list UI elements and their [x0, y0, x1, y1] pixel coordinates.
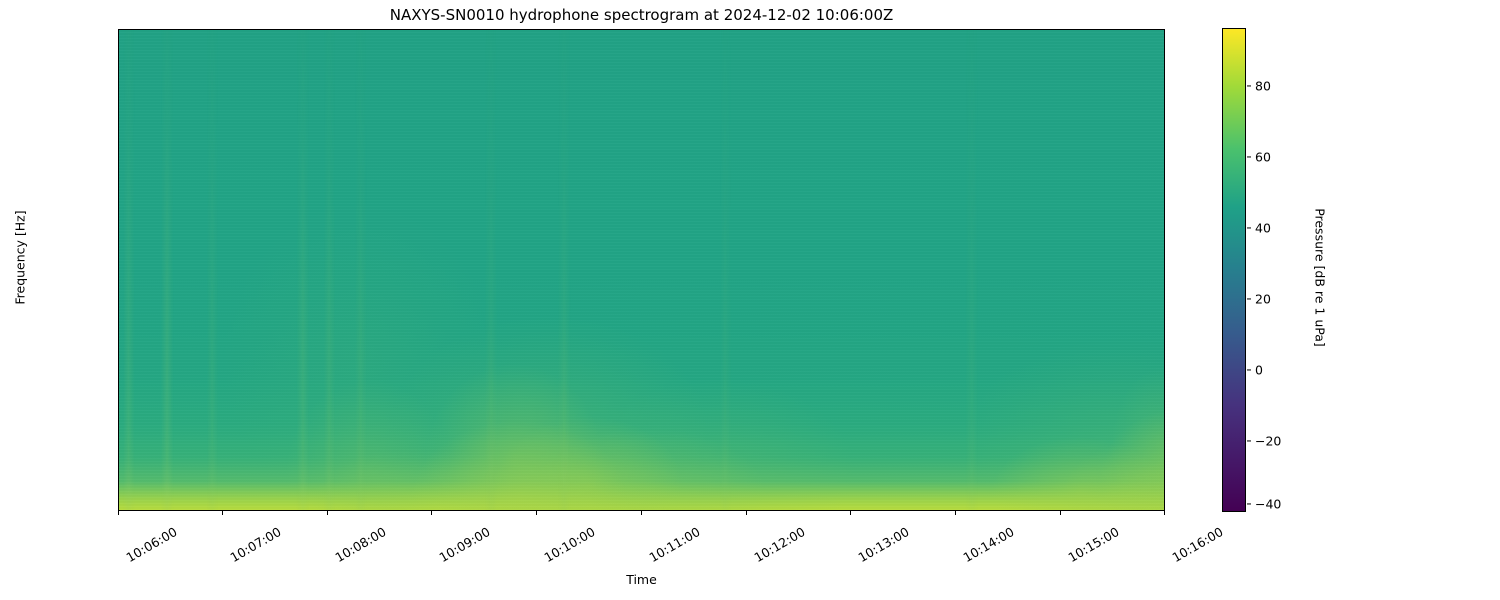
- spectrogram-figure: NAXYS-SN0010 hydrophone spectrogram at 2…: [0, 0, 1500, 600]
- x-tick-mark: [746, 511, 747, 515]
- colorbar-tick-mark: [1247, 227, 1251, 228]
- x-tick-mark: [327, 511, 328, 515]
- x-tick-label: 10:08:00: [333, 524, 389, 565]
- colorbar-tick-label: 40: [1255, 221, 1271, 236]
- x-tick-label: 10:10:00: [542, 524, 598, 565]
- colorbar-tick-mark: [1247, 298, 1251, 299]
- x-tick-mark: [222, 511, 223, 515]
- x-tick-mark: [641, 511, 642, 515]
- colorbar-tick-label: 0: [1255, 363, 1263, 378]
- x-tick-mark: [431, 511, 432, 515]
- colorbar-tick-label: 80: [1255, 79, 1271, 94]
- x-tick-label: 10:15:00: [1066, 524, 1122, 565]
- figure-title: NAXYS-SN0010 hydrophone spectrogram at 2…: [0, 6, 1283, 24]
- colorbar-tick-label: −20: [1255, 434, 1281, 449]
- x-tick-mark: [955, 511, 956, 515]
- colorbar[interactable]: [1222, 28, 1246, 512]
- x-tick-label: 10:06:00: [124, 524, 180, 565]
- colorbar-tick-label: 20: [1255, 292, 1271, 307]
- colorbar-tick-label: −40: [1255, 497, 1281, 512]
- colorbar-tick-mark: [1247, 440, 1251, 441]
- x-tick-mark: [1060, 511, 1061, 515]
- x-tick-label: 10:07:00: [228, 524, 284, 565]
- y-axis-label: Frequency [Hz]: [13, 98, 28, 418]
- colorbar-tick-mark: [1247, 85, 1251, 86]
- x-tick-label: 10:13:00: [856, 524, 912, 565]
- x-tick-mark: [118, 511, 119, 515]
- spectrogram-plot-area[interactable]: [118, 29, 1165, 511]
- colorbar-tick-mark: [1247, 369, 1251, 370]
- x-tick-mark: [850, 511, 851, 515]
- x-tick-label: 10:12:00: [752, 524, 808, 565]
- x-tick-label: 10:16:00: [1170, 524, 1226, 565]
- colorbar-tick-mark: [1247, 503, 1251, 504]
- x-tick-mark: [536, 511, 537, 515]
- x-tick-label: 10:11:00: [647, 524, 703, 565]
- x-axis-label: Time: [118, 572, 1165, 587]
- x-tick-label: 10:14:00: [961, 524, 1017, 565]
- colorbar-tick-mark: [1247, 156, 1251, 157]
- x-tick-mark: [1164, 511, 1165, 515]
- colorbar-tick-label: 60: [1255, 150, 1271, 165]
- colorbar-label: Pressure [dB re 1 uPa]: [1313, 118, 1328, 438]
- x-tick-label: 10:09:00: [437, 524, 493, 565]
- spectrogram-texture-layer: [119, 30, 1164, 510]
